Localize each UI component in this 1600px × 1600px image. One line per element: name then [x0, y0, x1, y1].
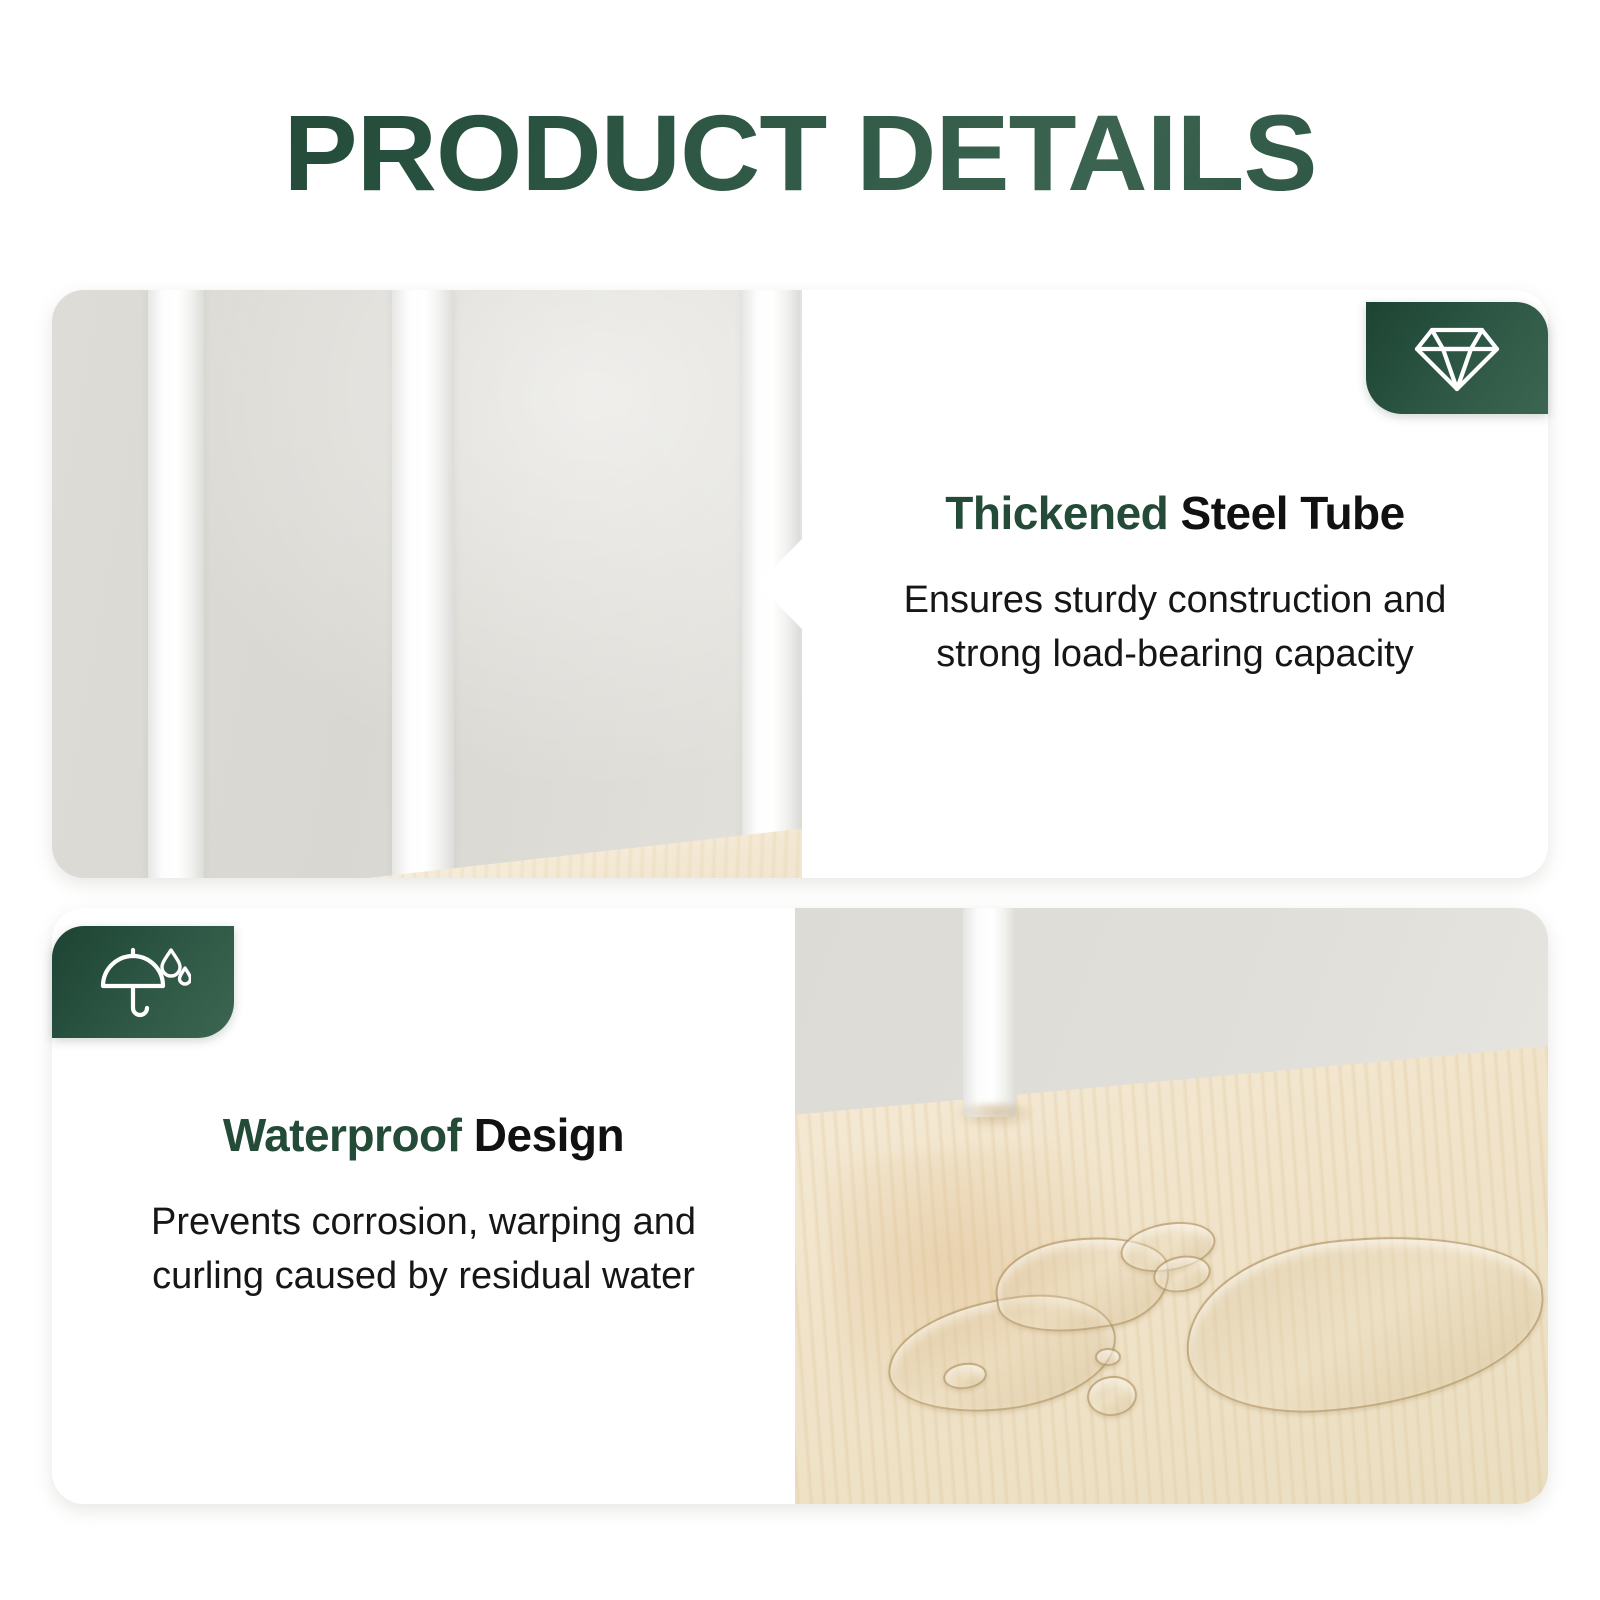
feature-heading-highlight: Thickened: [945, 487, 1168, 539]
feature-heading-highlight: Waterproof: [223, 1109, 462, 1161]
waterproof-board-photo: [795, 908, 1548, 1504]
feature-body-waterproof: Prevents corrosion, warping and curling …: [119, 1196, 729, 1304]
umbrella-rain-icon: [95, 942, 191, 1022]
feature-card-waterproof-design: Waterproof Design Prevents corrosion, wa…: [52, 908, 1548, 1504]
feature-heading-waterproof: Waterproof Design: [223, 1108, 624, 1162]
callout-tail-icon: [758, 537, 804, 631]
steel-tube-leg: [963, 908, 1016, 1117]
feature-card-thickened-steel-tube: Thickened Steel Tube Ensures sturdy cons…: [52, 290, 1548, 878]
feature-heading-steel-tube: Thickened Steel Tube: [945, 486, 1405, 540]
tube-foot-shadow: [955, 1103, 1035, 1129]
steel-tube-leg-center: [392, 290, 454, 878]
feature-card-inner: Waterproof Design Prevents corrosion, wa…: [52, 908, 1548, 1504]
page-title: PRODUCT DETAILS: [0, 96, 1600, 209]
water-droplet: [1095, 1348, 1121, 1366]
feature-body-steel-tube: Ensures sturdy construction and strong l…: [870, 574, 1480, 682]
umbrella-badge: [52, 926, 234, 1038]
steel-tube-shelf-photo: [52, 290, 802, 878]
feature-heading-rest: Design: [461, 1109, 624, 1161]
steel-tube-leg-left: [148, 290, 204, 878]
diamond-icon: [1414, 321, 1500, 395]
feature-heading-rest: Steel Tube: [1168, 487, 1404, 539]
diamond-badge: [1366, 302, 1548, 414]
feature-card-inner: Thickened Steel Tube Ensures sturdy cons…: [52, 290, 1548, 878]
